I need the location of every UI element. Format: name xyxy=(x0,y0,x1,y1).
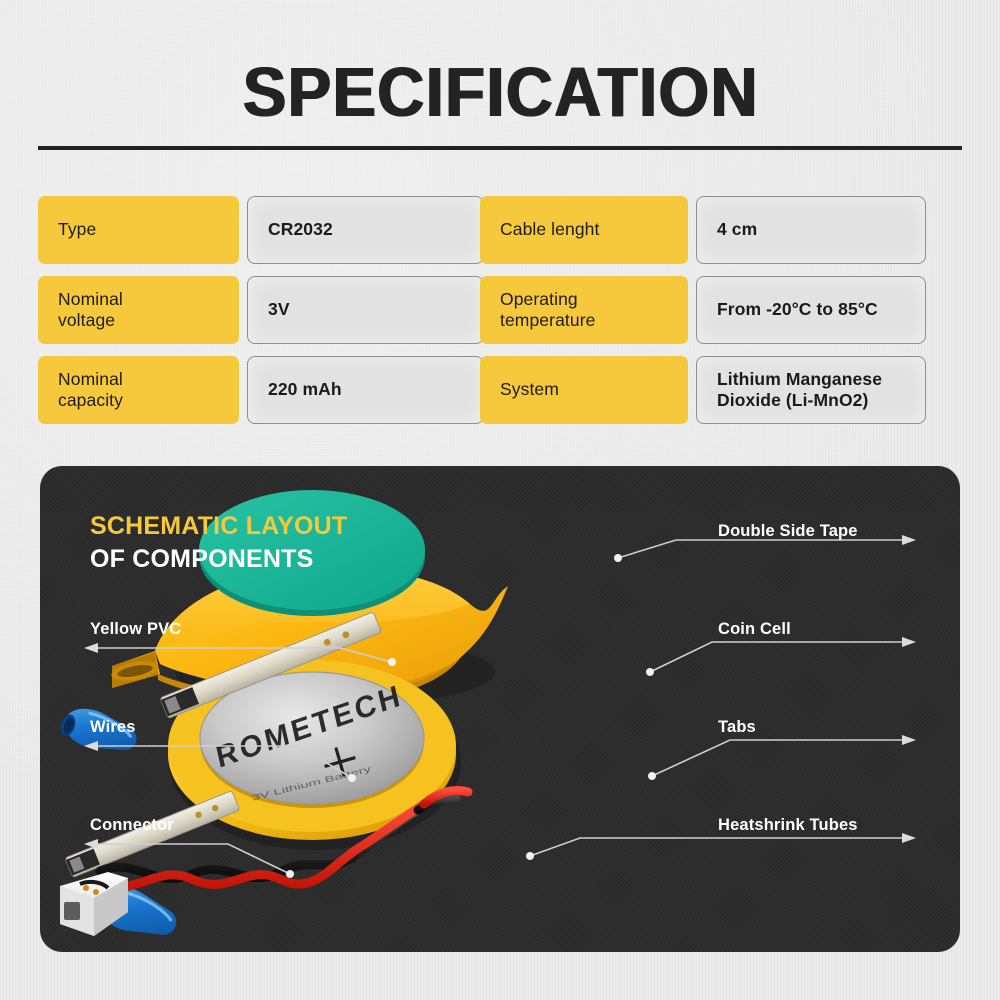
schematic-heading-line1: SCHEMATIC LAYOUT xyxy=(90,510,347,543)
spec-label-nominal-voltage: Nominalvoltage xyxy=(38,276,239,344)
spec-label-system: System xyxy=(480,356,688,424)
spec-label-cable-lenght: Cable lenght xyxy=(480,196,688,264)
spec-value-type: CR2032 xyxy=(247,196,484,264)
spec-row: System Lithium ManganeseDioxide (Li-MnO2… xyxy=(480,356,926,424)
callout-coin-cell: Coin Cell xyxy=(718,620,791,639)
spec-label-type: Type xyxy=(38,196,239,264)
spec-row: Nominalcapacity 220 mAh xyxy=(38,356,484,424)
spec-value-cable-lenght: 4 cm xyxy=(696,196,926,264)
spec-column-left: Type CR2032 Nominalvoltage 3V Nominalcap… xyxy=(38,196,484,428)
callout-double-side-tape: Double Side Tape xyxy=(718,522,858,541)
spec-row: Cable lenght 4 cm xyxy=(480,196,926,264)
page-title: SPECIFICATION xyxy=(35,52,965,132)
spec-value-nominal-voltage: 3V xyxy=(247,276,484,344)
spec-row: Operatingtemperature From -20°C to 85°C xyxy=(480,276,926,344)
callout-tabs: Tabs xyxy=(718,718,756,737)
spec-value-operating-temperature: From -20°C to 85°C xyxy=(696,276,926,344)
callout-heatshrink-tubes: Heatshrink Tubes xyxy=(718,816,858,835)
schematic-heading: SCHEMATIC LAYOUT OF COMPONENTS xyxy=(90,510,347,576)
spec-label-nominal-capacity: Nominalcapacity xyxy=(38,356,239,424)
spec-value-nominal-capacity: 220 mAh xyxy=(247,356,484,424)
schematic-heading-line2: OF COMPONENTS xyxy=(90,543,347,576)
callout-wires: Wires xyxy=(90,718,136,737)
spec-value-system: Lithium ManganeseDioxide (Li-MnO2) xyxy=(696,356,926,424)
spec-column-right: Cable lenght 4 cm Operatingtemperature F… xyxy=(480,196,926,428)
callout-connector: Connector xyxy=(90,816,174,835)
specification-table: Type CR2032 Nominalvoltage 3V Nominalcap… xyxy=(38,196,962,428)
spec-row: Nominalvoltage 3V xyxy=(38,276,484,344)
spec-label-operating-temperature: Operatingtemperature xyxy=(480,276,688,344)
title-divider xyxy=(38,146,962,150)
callout-yellow-pvc: Yellow PVC xyxy=(90,620,181,639)
spec-row: Type CR2032 xyxy=(38,196,484,264)
